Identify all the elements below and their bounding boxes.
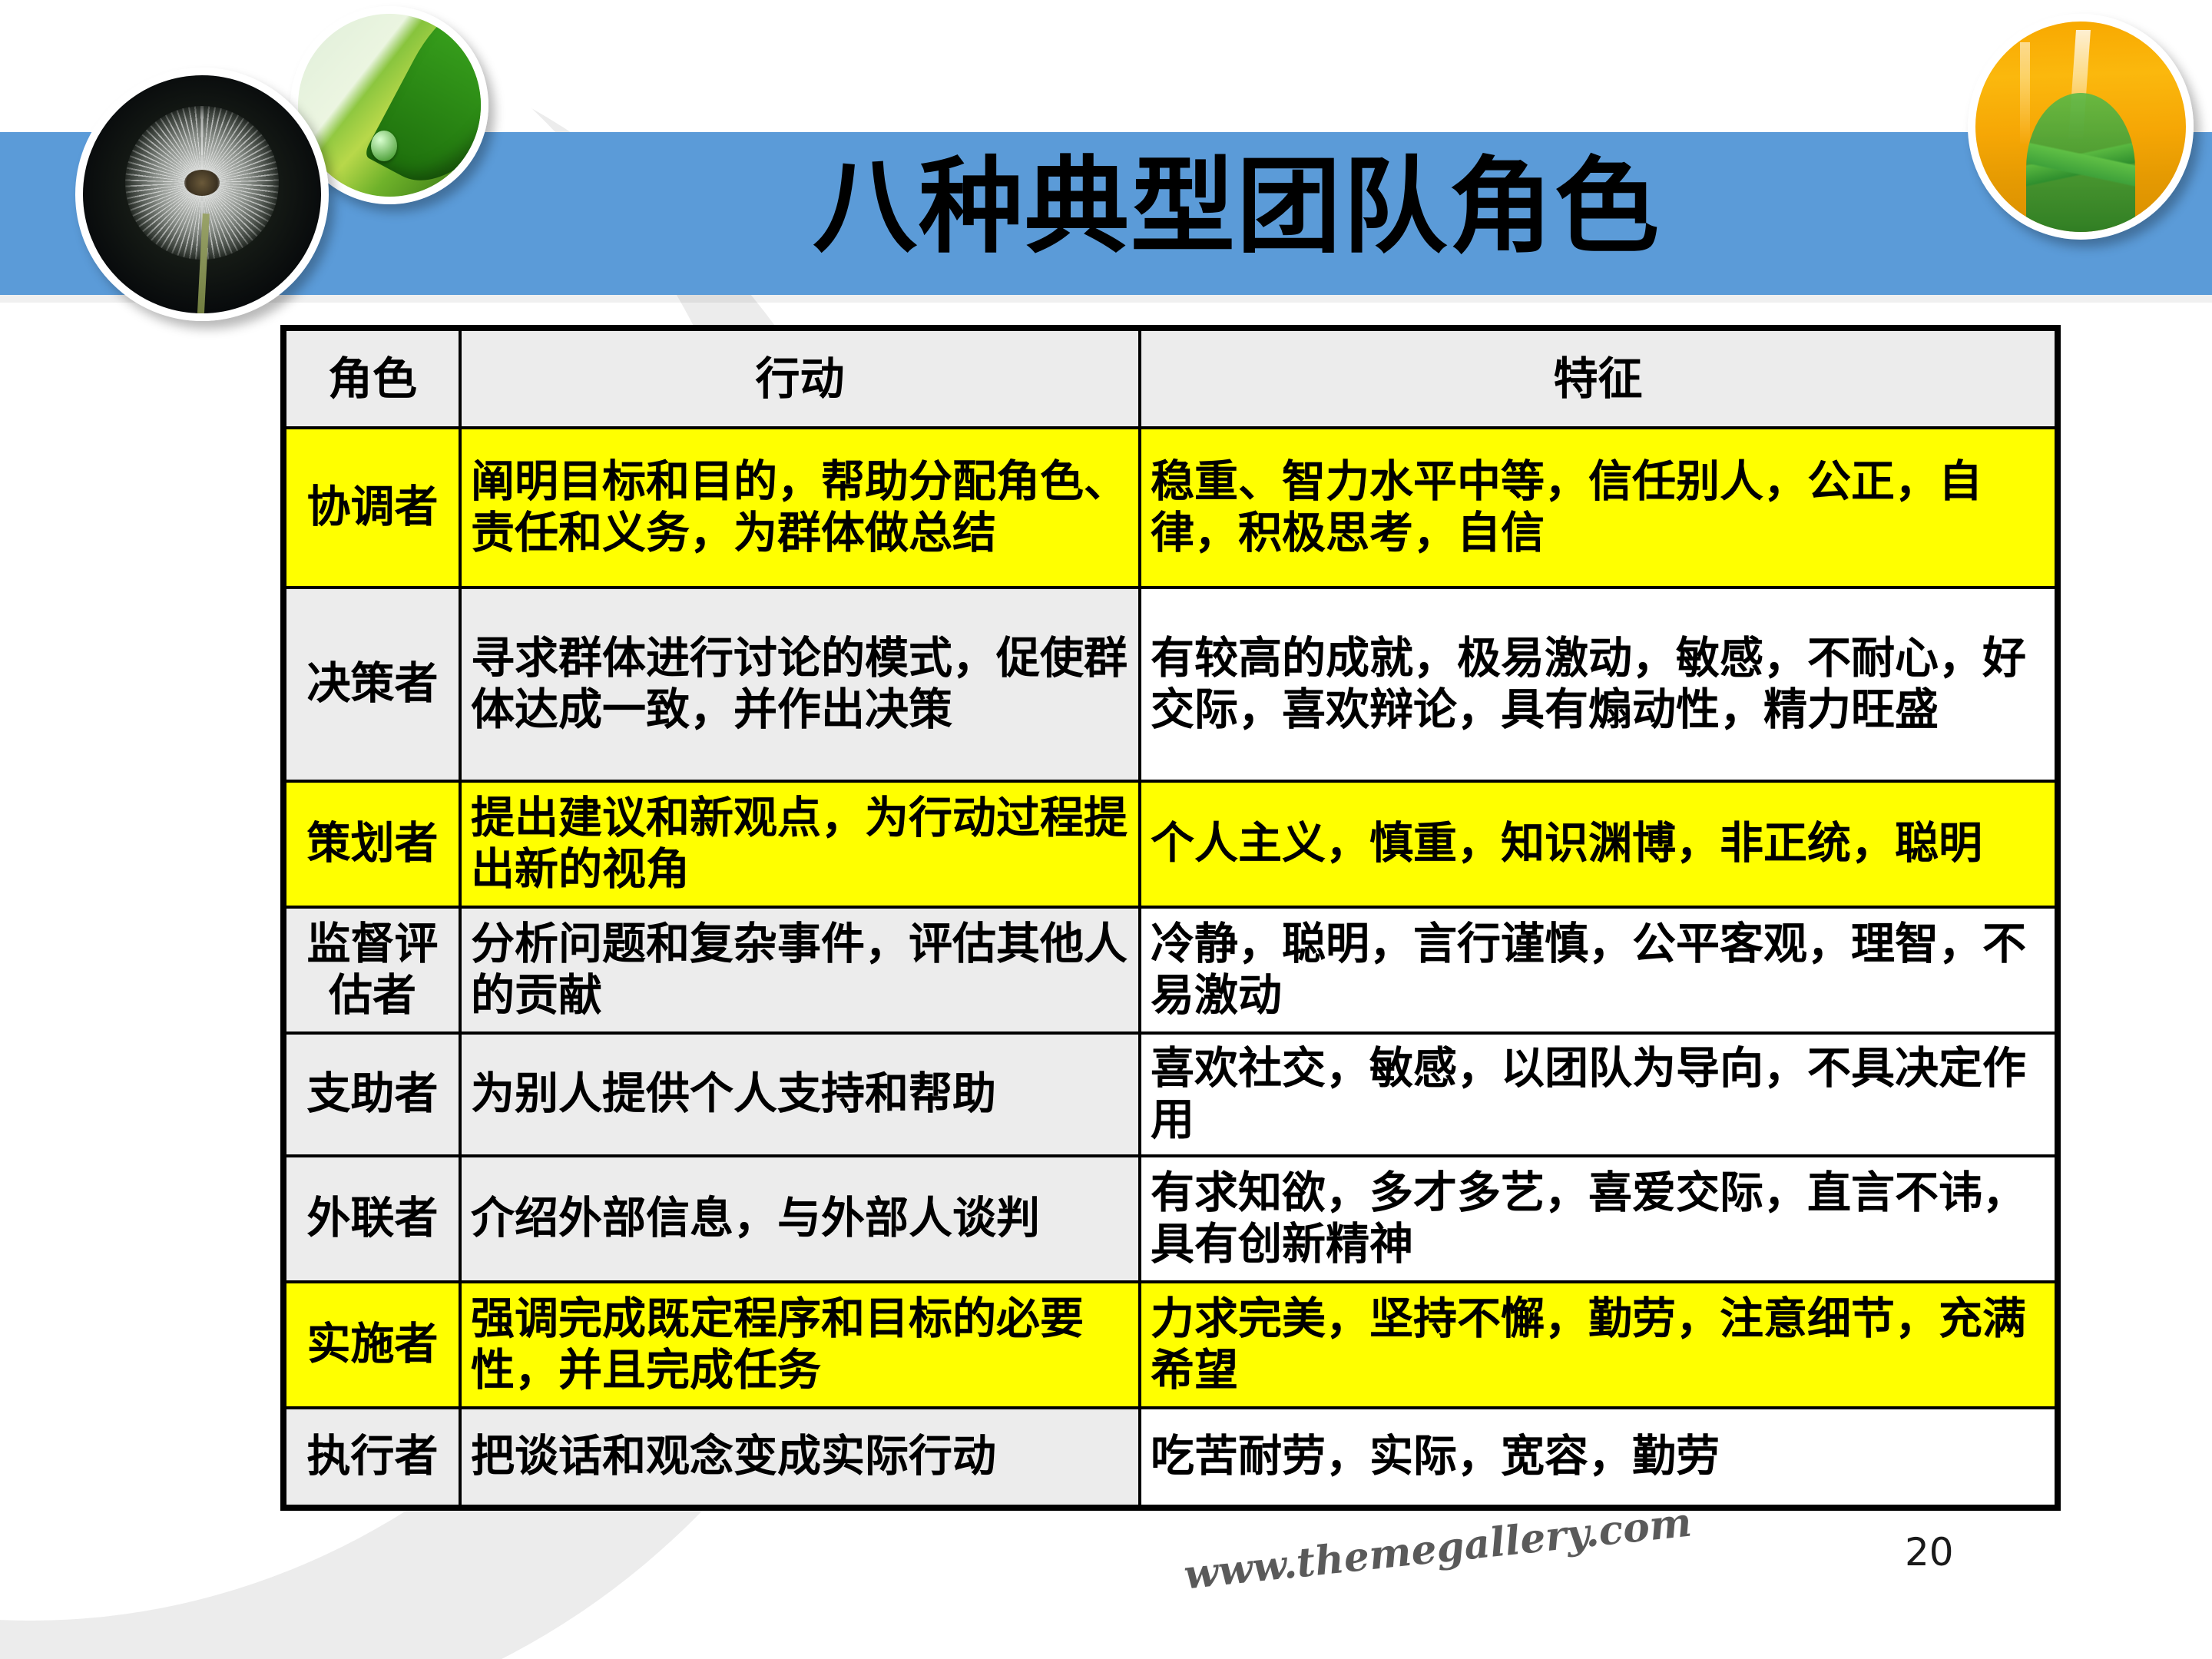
- table-row: 执行者 把谈话和观念变成实际行动 吃苦耐劳，实际，宽容，勤劳: [283, 1408, 2058, 1508]
- role-cell: 决策者: [283, 588, 460, 781]
- trait-cell: 个人主义，慎重，知识渊博，非正统，聪明: [1140, 781, 2058, 907]
- action-cell: 提出建议和新观点，为行动过程提出新的视角: [460, 781, 1140, 907]
- table-body: 协调者 阐明目标和目的，帮助分配角色、责任和义务，为群体做总结 稳重、智力水平中…: [283, 428, 2058, 1508]
- role-cell: 策划者: [283, 781, 460, 907]
- trait-cell: 喜欢社交，敏感，以团队为导向，不具决定作用: [1140, 1033, 2058, 1156]
- column-header-action: 行动: [460, 328, 1140, 428]
- action-cell: 分析问题和复杂事件，评估其他人的贡献: [460, 907, 1140, 1033]
- trait-cell: 稳重、智力水平中等，信任别人，公正，自律，积极思考，自信: [1140, 428, 2058, 588]
- trait-cell: 有较高的成就，极易激动，敏感，不耐心，好交际，喜欢辩论，具有煽动性，精力旺盛: [1140, 588, 2058, 781]
- table-row: 监督评估者 分析问题和复杂事件，评估其他人的贡献 冷静，聪明，言行谨慎，公平客观…: [283, 907, 2058, 1033]
- slide-canvas: 八种典型团队角色 角色 行动 特征: [0, 0, 2212, 1659]
- team-roles-table-container: 角色 行动 特征 协调者 阐明目标和目的，帮助分配角色、责任和义务，为群体做总结…: [280, 325, 2061, 1511]
- tulip-petal-highlight-2: [2020, 42, 2031, 144]
- action-cell: 阐明目标和目的，帮助分配角色、责任和义务，为群体做总结: [460, 428, 1140, 588]
- dandelion-photo-circle: [75, 68, 329, 321]
- page-title: 八种典型团队角色: [553, 123, 1920, 292]
- table-row: 决策者 寻求群体进行讨论的模式，促使群体达成一致，并作出决策 有较高的成就，极易…: [283, 588, 2058, 781]
- table-head: 角色 行动 特征: [283, 328, 2058, 428]
- action-cell: 介绍外部信息，与外部人谈判: [460, 1156, 1140, 1282]
- dandelion-core-shape: [184, 170, 220, 196]
- action-cell: 强调完成既定程序和目标的必要性，并且完成任务: [460, 1282, 1140, 1408]
- action-cell: 寻求群体进行讨论的模式，促使群体达成一致，并作出决策: [460, 588, 1140, 781]
- team-roles-table: 角色 行动 特征 协调者 阐明目标和目的，帮助分配角色、责任和义务，为群体做总结…: [280, 325, 2061, 1511]
- action-cell: 为别人提供个人支持和帮助: [460, 1033, 1140, 1156]
- orange-tulip-photo-circle: [1968, 14, 2194, 240]
- table-row: 实施者 强调完成既定程序和目标的必要性，并且完成任务 力求完美，坚持不懈，勤劳，…: [283, 1282, 2058, 1408]
- table-row: 外联者 介绍外部信息，与外部人谈判 有求知欲，多才多艺，喜爱交际，直言不讳，具有…: [283, 1156, 2058, 1282]
- page-number: 20: [1905, 1530, 1954, 1575]
- table-row: 策划者 提出建议和新观点，为行动过程提出新的视角 个人主义，慎重，知识渊博，非正…: [283, 781, 2058, 907]
- trait-cell: 力求完美，坚持不懈，勤劳，注意细节，充满希望: [1140, 1282, 2058, 1408]
- role-cell: 外联者: [283, 1156, 460, 1282]
- action-cell: 把谈话和观念变成实际行动: [460, 1408, 1140, 1508]
- title-band-shadow: [0, 295, 2212, 303]
- role-cell: 协调者: [283, 428, 460, 588]
- table-row: 协调者 阐明目标和目的，帮助分配角色、责任和义务，为群体做总结 稳重、智力水平中…: [283, 428, 2058, 588]
- table-header-row: 角色 行动 特征: [283, 328, 2058, 428]
- role-cell: 监督评估者: [283, 907, 460, 1033]
- role-cell: 执行者: [283, 1408, 460, 1508]
- trait-cell: 有求知欲，多才多艺，喜爱交际，直言不讳，具有创新精神: [1140, 1156, 2058, 1282]
- column-header-role: 角色: [283, 328, 460, 428]
- column-header-trait: 特征: [1140, 328, 2058, 428]
- trait-cell: 冷静，聪明，言行谨慎，公平客观，理智，不易激动: [1140, 907, 2058, 1033]
- table-row: 支助者 为别人提供个人支持和帮助 喜欢社交，敏感，以团队为导向，不具决定作用: [283, 1033, 2058, 1156]
- watermark: www.themegallery.com: [1182, 1498, 1694, 1598]
- trait-cell: 吃苦耐劳，实际，宽容，勤劳: [1140, 1408, 2058, 1508]
- role-cell: 实施者: [283, 1282, 460, 1408]
- role-cell: 支助者: [283, 1033, 460, 1156]
- tulip-leaves-shape: [2026, 93, 2135, 240]
